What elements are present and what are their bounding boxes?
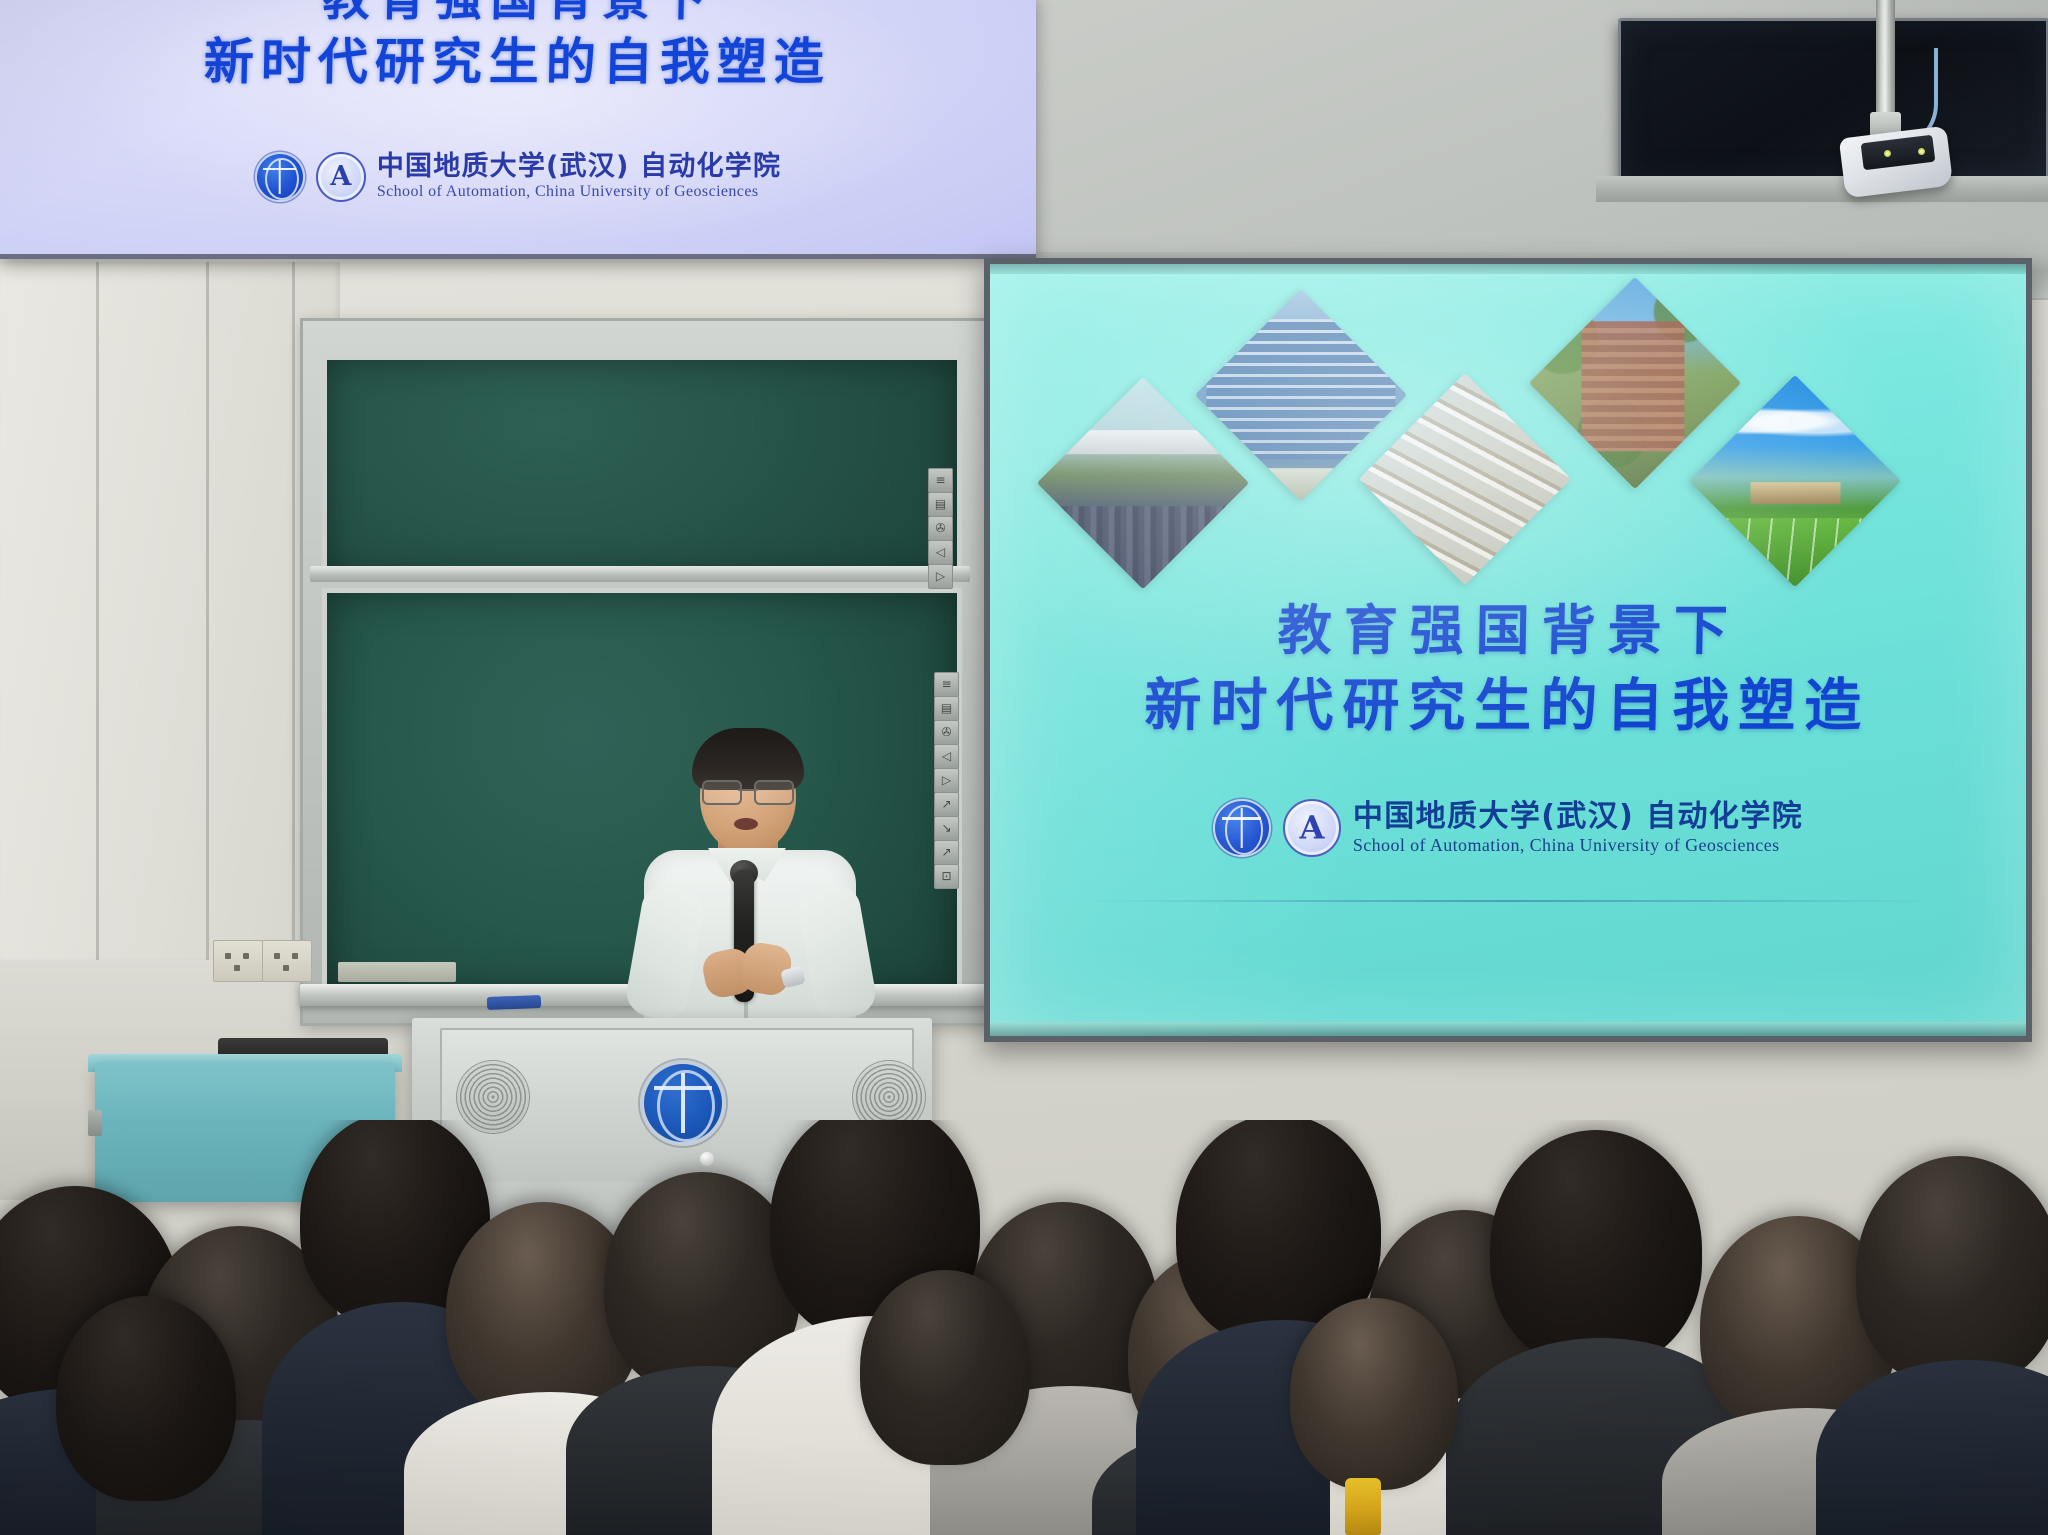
wall-groove-3 <box>292 262 295 1022</box>
slide-org-cn: 中国地质大学(武汉) 自动化学院 <box>1353 801 1803 833</box>
board-sticker-bot-9: ⊡ <box>934 864 959 889</box>
banner-title-line1: 教育强国背景下 <box>0 0 1036 30</box>
banner-logo-row: A 中国地质大学(武汉) 自动化学院 School of Automation,… <box>0 152 1036 202</box>
projector-led-1 <box>1884 150 1891 157</box>
automation-a-icon: A <box>1283 799 1341 857</box>
board-sticker-top-3: ✇ <box>928 516 953 541</box>
board-sticker-bot-5: ▷ <box>934 768 959 793</box>
audience-head <box>56 1296 236 1501</box>
automation-a-icon: A <box>316 152 366 202</box>
slide-photo-collage <box>1048 288 1968 588</box>
glasses-icon <box>702 780 794 801</box>
cug-globe-icon <box>255 152 305 202</box>
board-sticker-bot-6: ↗ <box>934 792 959 817</box>
wall-mounted-display <box>1618 18 2048 182</box>
board-sticker-top-1: ≡ <box>928 468 953 493</box>
blue-marker <box>487 995 541 1010</box>
audience-head <box>1290 1298 1458 1490</box>
presenter <box>630 718 870 1038</box>
cug-globe-icon <box>1213 799 1271 857</box>
screen-bottom-strip <box>990 1022 2026 1036</box>
presenter-mouth <box>734 818 758 830</box>
wall-groove-2 <box>206 262 209 962</box>
board-sticker-bot-3: ✇ <box>934 720 959 745</box>
display-shelf <box>1596 176 2048 202</box>
board-sticker-bot-2: ▤ <box>934 696 959 721</box>
board-sticker-top-4: ◁ <box>928 540 953 565</box>
automation-a-letter: A <box>318 163 364 190</box>
blackboard-middle-rail <box>310 566 970 582</box>
photo-sports-field <box>1689 375 1901 587</box>
wall-outlet-left <box>213 940 263 982</box>
wall-groove-1 <box>96 262 99 962</box>
slide-logo-row: A 中国地质大学(武汉) 自动化学院 School of Automation,… <box>990 799 2026 857</box>
slide-org-text: 中国地质大学(武汉) 自动化学院 School of Automation, C… <box>1353 801 1803 856</box>
banner-title: 教育强国背景下 新时代研究生的自我塑造 <box>0 0 1036 94</box>
lecture-hall-scene: 教育强国背景下 新时代研究生的自我塑造 A 中国地质大学(武汉) 自动化学院 S… <box>0 0 2048 1535</box>
overhead-banner-screen: 教育强国背景下 新时代研究生的自我塑造 A 中国地质大学(武汉) 自动化学院 S… <box>0 0 1036 259</box>
slide-divider <box>1082 900 1934 902</box>
chalk-tray <box>338 962 456 982</box>
audience <box>0 1120 2048 1535</box>
slide-org-en: School of Automation, China University o… <box>1353 836 1803 855</box>
automation-a-letter: A <box>1285 811 1339 843</box>
banner-title-line2: 新时代研究生的自我塑造 <box>0 30 1036 94</box>
board-sticker-bot-8: ↗ <box>934 840 959 865</box>
banner-org-text: 中国地质大学(武汉) 自动化学院 School of Automation, C… <box>377 153 781 201</box>
photo-brick-building-trees <box>1529 277 1741 489</box>
banner-org-en: School of Automation, China University o… <box>377 184 781 201</box>
audience-head <box>1490 1130 1702 1368</box>
board-sticker-bot-7: ↘ <box>934 816 959 841</box>
screen-top-strip <box>990 264 2026 274</box>
slide-title: 教育强国背景下 新时代研究生的自我塑造 <box>989 594 2028 745</box>
water-bottle-cap <box>1345 1478 1381 1535</box>
slide-title-line1: 教育强国背景下 <box>990 594 2027 667</box>
blackboard-upper-panel <box>322 355 962 580</box>
left-wall-panel <box>0 262 340 962</box>
board-sticker-top-2: ▤ <box>928 492 953 517</box>
audience-head <box>860 1270 1030 1465</box>
banner-org-cn: 中国地质大学(武汉) 自动化学院 <box>377 153 781 182</box>
wall-outlet-right <box>262 940 312 982</box>
main-projection-screen: 教育强国背景下 新时代研究生的自我塑造 A 中国地质大学(武汉) 自动化学院 S… <box>984 258 2032 1042</box>
board-sticker-bot-4: ◁ <box>934 744 959 769</box>
projector-mount-rod <box>1876 0 1895 122</box>
board-sticker-bot-1: ≡ <box>934 672 959 697</box>
audience-head <box>1856 1156 2048 1388</box>
projector-led-2 <box>1918 148 1925 155</box>
board-sticker-top-5: ▷ <box>928 564 953 589</box>
slide-title-line2: 新时代研究生的自我塑造 <box>989 667 2026 745</box>
